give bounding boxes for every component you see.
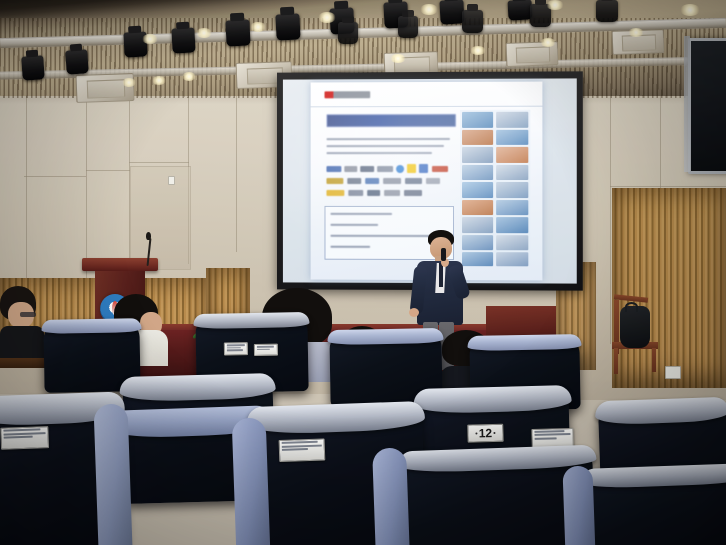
stage-spotlight bbox=[507, 0, 532, 21]
ceiling-light bbox=[628, 28, 644, 37]
ceiling-light bbox=[142, 34, 158, 44]
stage-spotlight bbox=[275, 13, 300, 40]
seat-number-label: 12 bbox=[479, 427, 493, 439]
stage-spotlight bbox=[596, 0, 618, 22]
ceiling-light bbox=[540, 38, 556, 47]
seat-side-cushion bbox=[232, 417, 271, 545]
seat-side-cushion bbox=[93, 403, 132, 545]
side-chair-leg bbox=[652, 348, 656, 372]
presenter-hand bbox=[409, 308, 419, 317]
ceiling-light bbox=[680, 4, 700, 16]
seat-headrail bbox=[327, 328, 444, 345]
wall-mounted-display[interactable] bbox=[688, 38, 726, 174]
stage-spotlight bbox=[439, 0, 464, 25]
wood-slat-wainscot bbox=[612, 188, 726, 388]
ceiling-light bbox=[182, 72, 196, 81]
stage-spotlight bbox=[171, 27, 195, 53]
stage-spotlight bbox=[462, 10, 483, 33]
ceiling-light bbox=[250, 22, 266, 32]
conference-hall-photo: 10 12 bbox=[0, 0, 726, 545]
seat-headrail bbox=[193, 312, 310, 329]
seat-side-cushion bbox=[562, 466, 595, 545]
wall-seam bbox=[86, 170, 130, 171]
attendee-glasses-icon bbox=[20, 312, 36, 317]
stage-spotlight bbox=[338, 22, 358, 44]
seat-info-plate bbox=[254, 344, 278, 356]
ceiling-light bbox=[152, 76, 166, 85]
black-backpack bbox=[620, 306, 650, 348]
ceiling-light bbox=[390, 54, 406, 63]
attendee bbox=[0, 286, 46, 356]
side-chair-leg bbox=[614, 348, 618, 374]
stage-spotlight bbox=[21, 55, 45, 80]
seat-info-plate bbox=[279, 438, 326, 462]
wall-seam bbox=[24, 176, 86, 177]
wall-switch[interactable] bbox=[168, 176, 175, 185]
display-bracket bbox=[684, 36, 690, 172]
auditorium-seat[interactable] bbox=[584, 467, 726, 545]
seat-info-plate bbox=[224, 342, 248, 355]
seat-headrail bbox=[467, 334, 582, 350]
ceiling-light bbox=[122, 78, 136, 87]
ceiling-light bbox=[318, 12, 336, 23]
backpack-strap bbox=[625, 302, 638, 312]
seat-side-cushion bbox=[372, 447, 410, 545]
ceiling-light bbox=[546, 0, 564, 10]
ceiling-light bbox=[470, 46, 486, 55]
seat-info-plate bbox=[0, 426, 49, 450]
stage-spotlight bbox=[65, 49, 89, 74]
wall-seam bbox=[610, 186, 726, 187]
stage-spotlight bbox=[398, 16, 418, 38]
seat-headrail bbox=[41, 318, 141, 334]
wall-access-panel bbox=[130, 166, 191, 270]
ceiling-light bbox=[196, 28, 212, 38]
handheld-microphone-icon bbox=[441, 248, 446, 261]
podium-microphone-icon bbox=[146, 232, 151, 240]
attendee-shoulders bbox=[0, 326, 44, 358]
seat-number-plate: 12 bbox=[467, 424, 503, 443]
stage-spotlight bbox=[225, 19, 250, 46]
ceiling-light bbox=[420, 4, 438, 15]
wall-power-outlet[interactable] bbox=[665, 366, 681, 379]
wall-seam bbox=[129, 162, 189, 163]
